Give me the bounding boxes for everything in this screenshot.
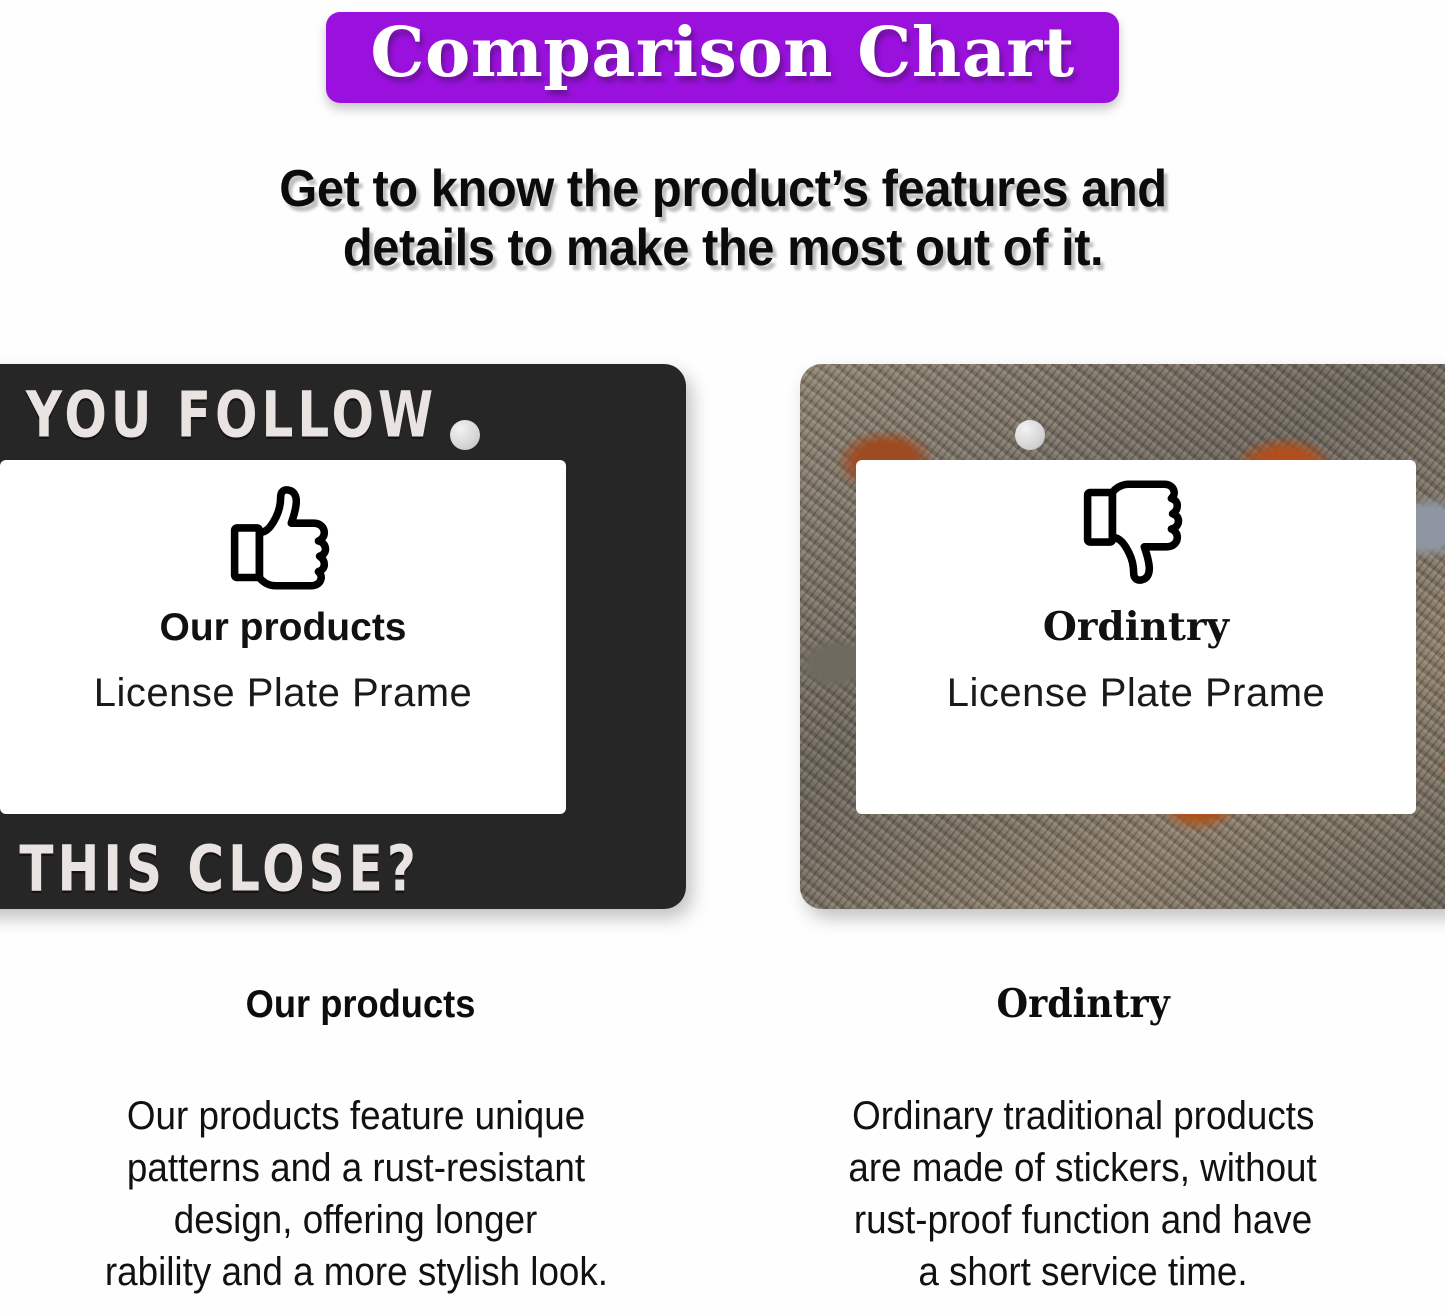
details-column-our-products: Our products Our products feature unique… bbox=[0, 985, 722, 1315]
details-column-ordinary: Ordintry Ordinary traditional products a… bbox=[722, 985, 1444, 1315]
ordinary-product-subtitle: License Plate Prame bbox=[947, 671, 1326, 716]
frame-inner-window: Our products License Plate Prame bbox=[0, 460, 566, 814]
page-title: Comparison Chart bbox=[370, 18, 1074, 89]
details-right-line-2: are made of stickers, without bbox=[849, 1142, 1317, 1194]
our-product-title: Our products bbox=[159, 608, 406, 647]
subtitle-line-2: details to make the most out of it. bbox=[159, 219, 1287, 278]
details-body-right: Ordinary traditional products are made o… bbox=[762, 1090, 1404, 1298]
details-left-line-1: Our products feature unique bbox=[127, 1090, 585, 1142]
product-frames-row: O YOU FOLLOW S THIS CLOSE? Our products … bbox=[0, 352, 1445, 922]
details-row: Our products Our products feature unique… bbox=[0, 985, 1445, 1315]
frame-inner-window: Ordintry License Plate Prame bbox=[856, 460, 1416, 814]
details-right-line-4: a short service time. bbox=[918, 1246, 1247, 1298]
thumbs-down-icon bbox=[1077, 476, 1195, 594]
details-heading-left: Our products bbox=[246, 985, 476, 1024]
details-left-line-3: design, offering longer bbox=[174, 1194, 538, 1246]
subtitle-line-1: Get to know the product’s features and bbox=[159, 160, 1287, 219]
thumbs-up-icon bbox=[224, 476, 342, 594]
title-banner: Comparison Chart bbox=[326, 12, 1118, 103]
title-banner-wrapper: Comparison Chart bbox=[0, 12, 1445, 103]
our-product-window-content: Our products License Plate Prame bbox=[0, 460, 566, 814]
our-product-subtitle: License Plate Prame bbox=[94, 671, 473, 716]
frame-band-bottom-text: S THIS CLOSE? bbox=[0, 832, 420, 905]
details-left-line-4: rability and a more stylish look. bbox=[104, 1246, 607, 1298]
our-product-license-plate-frame: O YOU FOLLOW S THIS CLOSE? Our products … bbox=[0, 364, 686, 909]
details-left-line-2: patterns and a rust-resistant bbox=[127, 1142, 585, 1194]
ordinary-product-title: Ordintry bbox=[1043, 608, 1229, 647]
ordinary-product-window-content: Ordintry License Plate Prame bbox=[856, 460, 1416, 814]
details-body-left: Our products feature unique patterns and… bbox=[30, 1090, 682, 1298]
details-right-line-3: rust-proof function and have bbox=[854, 1194, 1312, 1246]
ordinary-product-license-plate-frame: Ordintry License Plate Prame bbox=[800, 364, 1445, 909]
mounting-hole-icon bbox=[450, 420, 480, 450]
details-heading-right: Ordintry bbox=[996, 985, 1169, 1024]
frame-band-top-text: O YOU FOLLOW bbox=[0, 378, 437, 451]
subtitle: Get to know the product’s features and d… bbox=[123, 160, 1323, 279]
details-right-line-1: Ordinary traditional products bbox=[852, 1090, 1314, 1142]
mounting-hole-icon bbox=[1015, 420, 1045, 450]
